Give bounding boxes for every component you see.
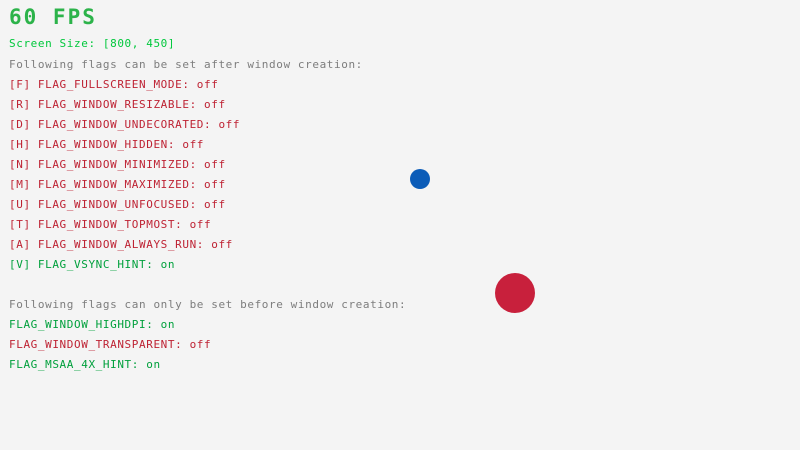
- flag-line-window-undecorated[interactable]: [D] FLAG_WINDOW_UNDECORATED: off: [9, 118, 240, 131]
- flag-line-window-transparent: FLAG_WINDOW_TRANSPARENT: off: [9, 338, 211, 351]
- bouncing-ball-blue: [410, 169, 430, 189]
- flag-line-window-always-run[interactable]: [A] FLAG_WINDOW_ALWAYS_RUN: off: [9, 238, 233, 251]
- flag-line-window-hidden[interactable]: [H] FLAG_WINDOW_HIDDEN: off: [9, 138, 204, 151]
- flag-line-window-highdpi: FLAG_WINDOW_HIGHDPI: on: [9, 318, 175, 331]
- flag-line-msaa-4x-hint: FLAG_MSAA_4X_HINT: on: [9, 358, 161, 371]
- screen-size-label: Screen Size: [800, 450]: [9, 37, 175, 50]
- flag-line-window-topmost[interactable]: [T] FLAG_WINDOW_TOPMOST: off: [9, 218, 211, 231]
- raylib-window-canvas: 60 FPS Screen Size: [800, 450] Following…: [0, 0, 800, 450]
- fps-counter: 60 FPS: [9, 5, 97, 29]
- flag-line-vsync-hint[interactable]: [V] FLAG_VSYNC_HINT: on: [9, 258, 175, 271]
- section-header-after-creation: Following flags can be set after window …: [9, 58, 363, 71]
- flag-line-window-resizable[interactable]: [R] FLAG_WINDOW_RESIZABLE: off: [9, 98, 226, 111]
- section-header-before-creation: Following flags can only be set before w…: [9, 298, 406, 311]
- bouncing-ball-red: [495, 273, 535, 313]
- flag-line-fullscreen-mode[interactable]: [F] FLAG_FULLSCREEN_MODE: off: [9, 78, 218, 91]
- flag-line-window-maximized[interactable]: [M] FLAG_WINDOW_MAXIMIZED: off: [9, 178, 226, 191]
- flag-line-window-unfocused[interactable]: [U] FLAG_WINDOW_UNFOCUSED: off: [9, 198, 226, 211]
- flag-line-window-minimized[interactable]: [N] FLAG_WINDOW_MINIMIZED: off: [9, 158, 226, 171]
